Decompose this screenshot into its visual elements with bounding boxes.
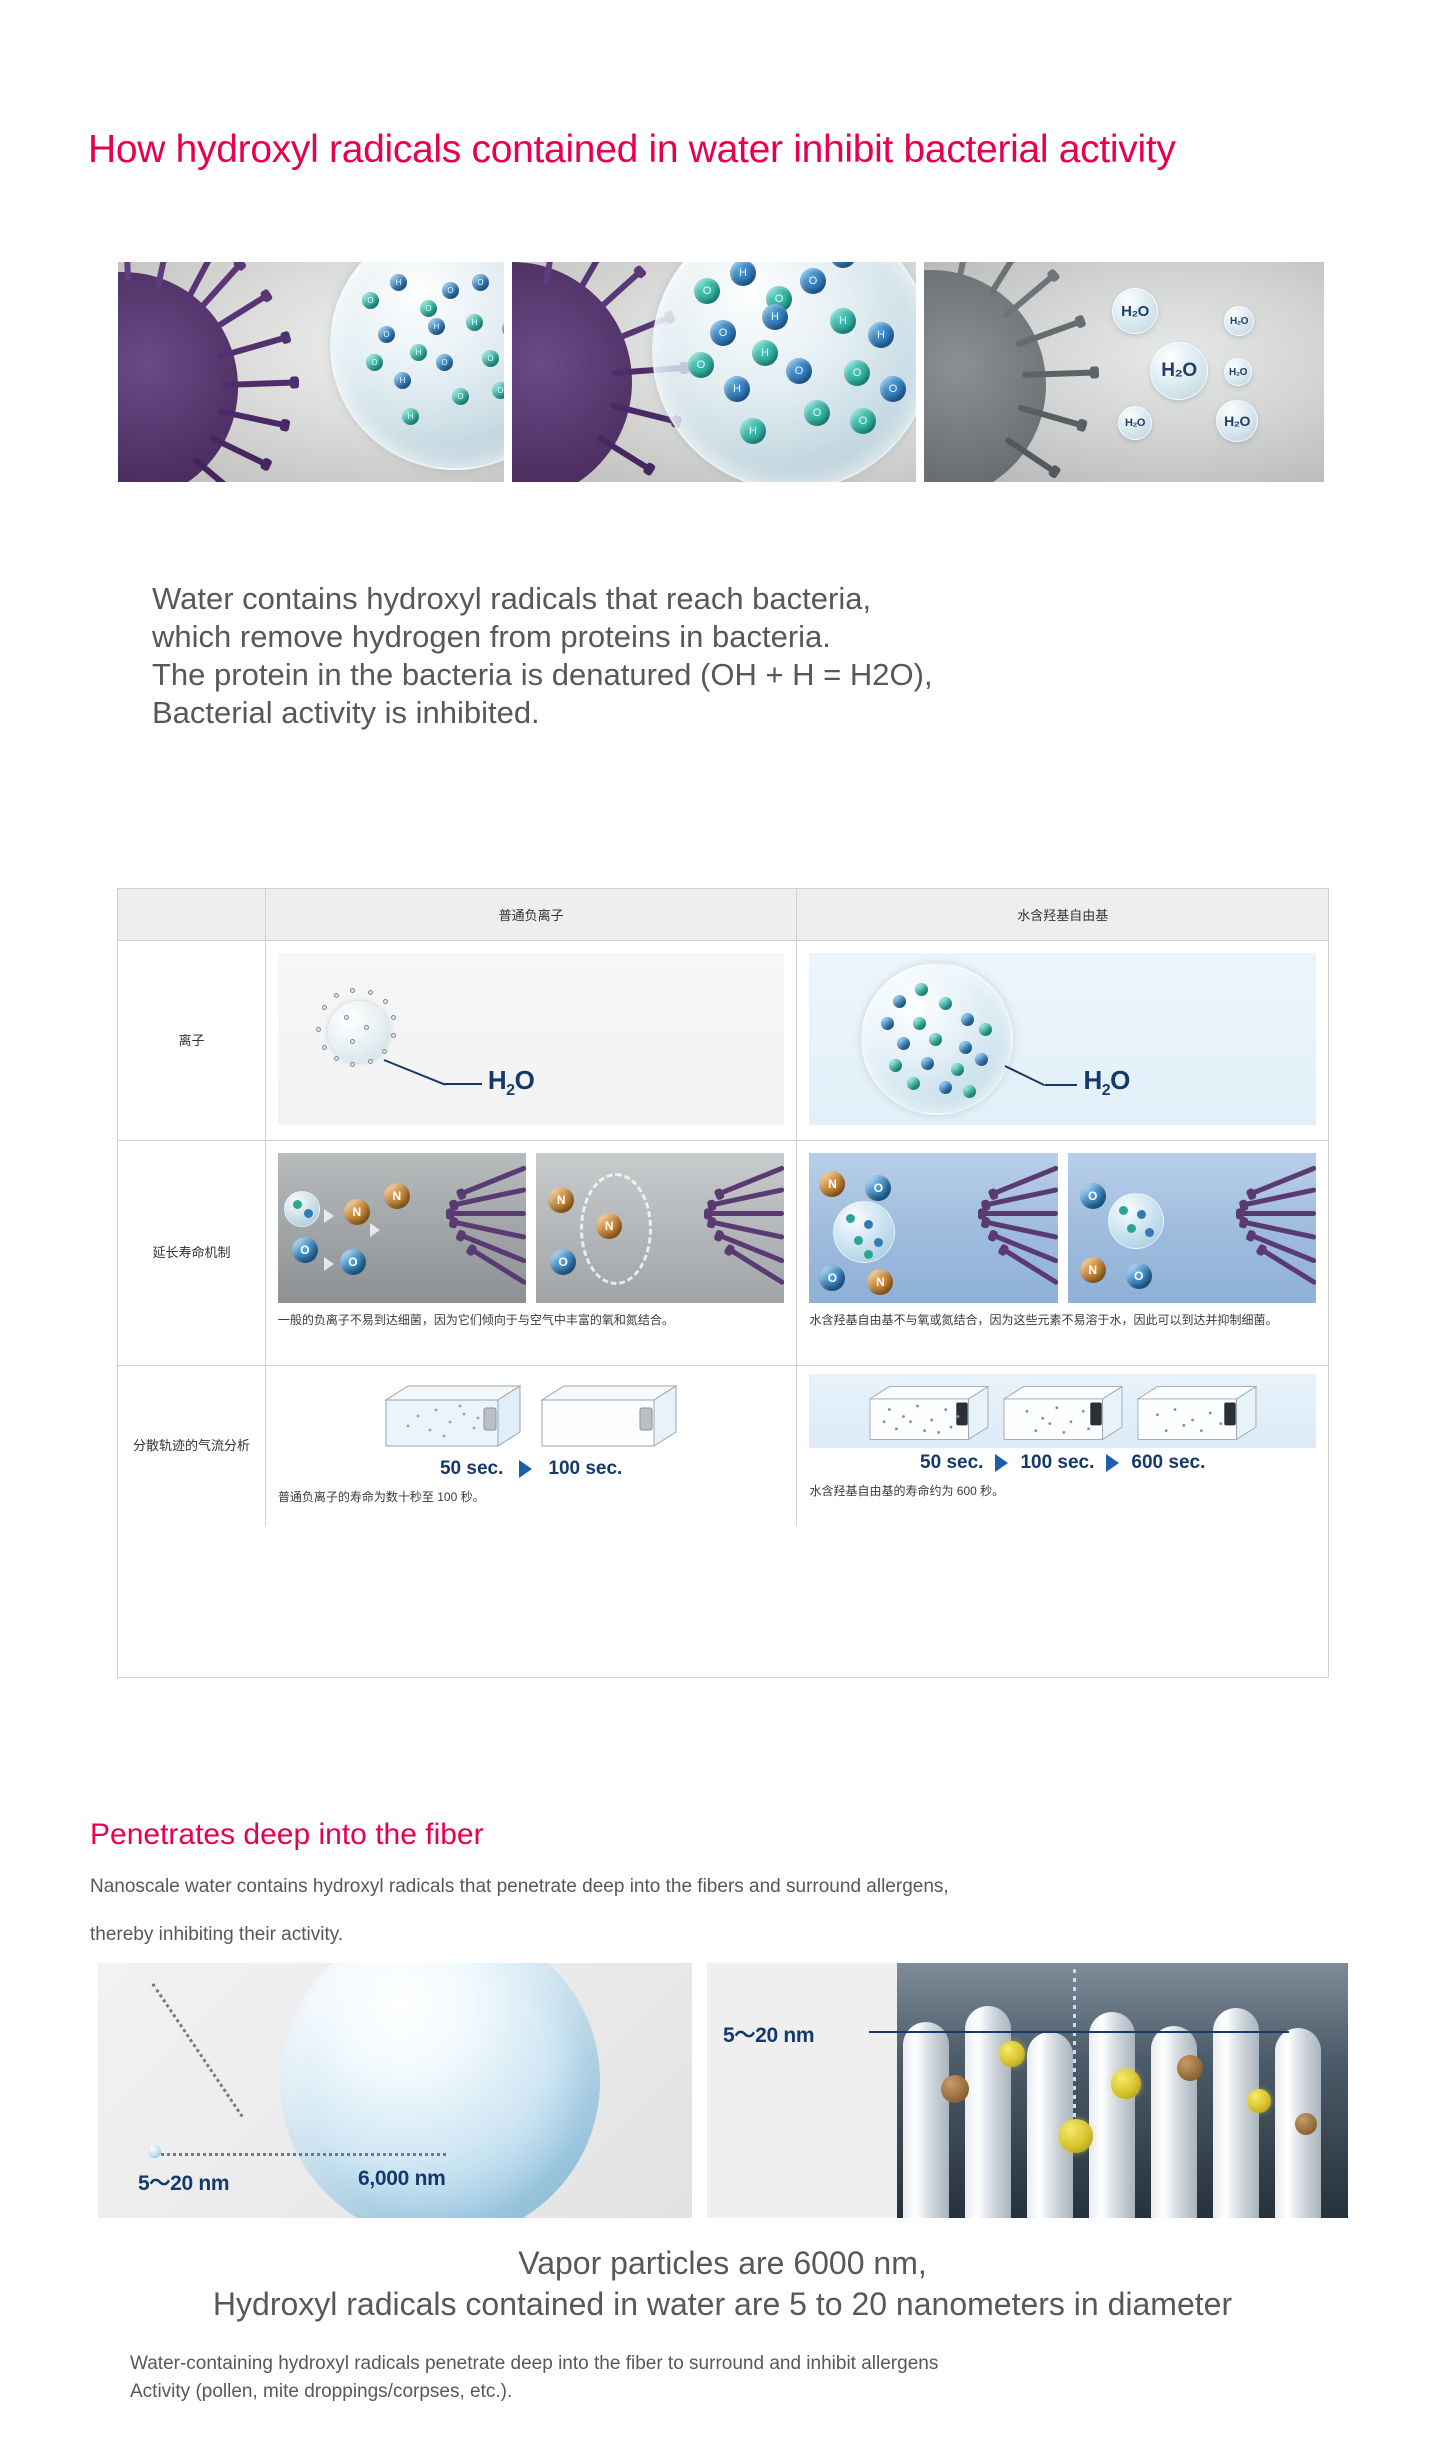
dotted-measure-diagonal: [152, 1983, 244, 2117]
allergen-mite-debris: [1295, 2113, 1317, 2135]
measure-line: [869, 2031, 1289, 2033]
atom-n: N: [548, 1187, 574, 1213]
leader-line: [1045, 1084, 1077, 1086]
water-cluster-small: [1108, 1193, 1164, 1249]
timeline-ordinary: 50 sec. 100 sec.: [278, 1458, 785, 1480]
size-comparison-image: 5～20 nm 6,000 nm: [98, 1963, 692, 2218]
h2o-bubble: H₂O: [1216, 400, 1258, 442]
bacteria-spike-wall: [434, 1153, 526, 1303]
allergen-pollen: [999, 2041, 1025, 2067]
label-6000-nm: 6,000 nm: [358, 2167, 446, 2191]
hero-image-3: H₂O H₂O H₂O H₂O H₂O H₂O: [924, 262, 1324, 482]
allergen-mite-debris: [941, 2075, 969, 2103]
hero-image-1: O H O O H O H O O H O H O H O O H O: [118, 262, 504, 482]
airflow-box: [378, 1378, 528, 1454]
leader-line: [1005, 1065, 1045, 1086]
arrow-right-icon: [519, 1460, 532, 1478]
caption-hydroxyl-mechanism: 水含羟基自由基不与氧或氮结合，因为这些元素不易溶于水，因此可以到达并抑制细菌。: [809, 1311, 1316, 1330]
comparison-table: 普通负离子 水含羟基自由基 离子: [117, 888, 1329, 1678]
dotted-measure-horizontal: [156, 2153, 446, 2156]
water-cluster-small: [833, 1201, 895, 1263]
atom-n: N: [819, 1171, 845, 1197]
label-5-20-nm: 5～20 nm: [138, 2167, 229, 2197]
fiber-cross-section-image: 5～20 nm: [707, 1963, 1348, 2218]
intro-line-2: which remove hydrogen from proteins in b…: [152, 618, 1272, 656]
atom-o: O: [1126, 1263, 1152, 1289]
row-label-lifetime-mechanism: 延长寿命机制: [118, 1141, 266, 1365]
atom-n: N: [1080, 1257, 1106, 1283]
page-title: How hydroxyl radicals contained in water…: [88, 128, 1176, 172]
leader-line: [384, 1059, 446, 1086]
cell-hydroxyl-airflow: 50 sec. 100 sec. 600 sec. 水含羟基自由基的寿命约为 6…: [797, 1366, 1328, 1526]
atom-o: O: [1080, 1183, 1106, 1209]
airflow-box: [863, 1378, 995, 1448]
atom-o: O: [550, 1249, 576, 1275]
atom-o: O: [819, 1265, 845, 1291]
atom-o: O: [865, 1175, 891, 1201]
fiber-strand: [903, 2022, 949, 2218]
intro-paragraph: Water contains hydroxyl radicals that re…: [152, 580, 1272, 732]
cell-hydroxyl-mechanism: N O O N: [797, 1141, 1328, 1365]
bacteria-spike-wall: [692, 1153, 784, 1303]
time-label: 100 sec.: [1020, 1452, 1094, 1474]
allergen-mite-debris: [1177, 2055, 1203, 2081]
bottom-summary-line-2: Hydroxyl radicals contained in water are…: [0, 2284, 1445, 2325]
bottom-note: Water-containing hydroxyl radicals penet…: [130, 2350, 1360, 2406]
allergen-pollen: [1247, 2089, 1271, 2113]
fiber-image-strip: 5～20 nm 6,000 nm 5～20 nm: [98, 1963, 1348, 2218]
allergen-pollen: [1111, 2069, 1141, 2099]
airflow-box: [1131, 1378, 1263, 1448]
bacteria-spike-wall: [966, 1153, 1058, 1303]
fiber-paragraph-line-1: Nanoscale water contains hydroxyl radica…: [90, 1872, 1360, 1902]
time-label: 100 sec.: [548, 1458, 622, 1480]
h2o-label-ordinary: H2O: [488, 1065, 534, 1100]
water-cluster-droplet: [861, 963, 1013, 1115]
h2o-bubble: H₂O: [1112, 288, 1158, 334]
cell-ordinary-mechanism: O N O N N: [266, 1141, 798, 1365]
row-label-ions: 离子: [118, 941, 266, 1140]
fiber-paragraph-line-2: thereby inhibiting their activity.: [90, 1920, 1360, 1950]
arrow-right-icon: [1106, 1454, 1119, 1472]
time-label: 50 sec.: [440, 1458, 503, 1480]
row-label-airflow-analysis: 分散轨迹的气流分析: [118, 1366, 266, 1526]
hydroxyl-radical-stream: [1073, 1969, 1076, 2119]
ion-panel-blue: H2O: [809, 953, 1316, 1125]
intro-line-3: The protein in the bacteria is denatured…: [152, 656, 1272, 694]
cell-hydroxyl-radical-diagram: H2O: [797, 941, 1328, 1140]
timeline-hydroxyl: 50 sec. 100 sec. 600 sec.: [809, 1452, 1316, 1474]
allergen-pollen: [1059, 2119, 1093, 2153]
intro-line-1: Water contains hydroxyl radicals that re…: [152, 580, 1272, 618]
h2o-bubble: H₂O: [1224, 358, 1252, 386]
cell-ordinary-ion-diagram: H2O: [266, 941, 798, 1140]
hero-image-strip: O H O O H O H O O H O H O H O O H O: [118, 262, 1326, 482]
atom-o: O: [340, 1249, 366, 1275]
h2o-bubble: H₂O: [1150, 342, 1208, 400]
caption-hydroxyl-lifetime: 水含羟基自由基的寿命约为 600 秒。: [809, 1482, 1316, 1501]
leader-line: [444, 1083, 482, 1085]
atom-n: N: [384, 1183, 410, 1209]
atom-n: N: [344, 1199, 370, 1225]
table-row: 延长寿命机制 O N O N: [118, 1141, 1328, 1366]
h2o-bubble: H₂O: [1224, 306, 1254, 336]
cell-ordinary-airflow: 50 sec. 100 sec. 普通负离子的寿命为数十秒至 100 秒。: [266, 1366, 798, 1526]
time-label: 50 sec.: [920, 1452, 983, 1474]
table-row: 离子 H2O: [118, 941, 1328, 1141]
bottom-note-line-1: Water-containing hydroxyl radicals penet…: [130, 2350, 1360, 2378]
airflow-boxes-gray: [278, 1374, 785, 1454]
table-header-blank: [118, 889, 266, 940]
small-ion-cluster-icon: [328, 1001, 390, 1063]
mechanism-image-left: N O O N: [809, 1153, 1057, 1303]
section-heading-fiber: Penetrates deep into the fiber: [90, 1818, 484, 1852]
time-label: 600 sec.: [1131, 1452, 1205, 1474]
ion-panel-gray: H2O: [278, 953, 785, 1125]
airflow-box: [534, 1378, 684, 1454]
caption-ordinary-mechanism: 一般的负离子不易到达细菌，因为它们倾向于与空气中丰富的氧和氮结合。: [278, 1311, 785, 1330]
caption-ordinary-lifetime: 普通负离子的寿命为数十秒至 100 秒。: [278, 1488, 785, 1507]
bottom-note-line-2: Activity (pollen, mite droppings/corpses…: [130, 2378, 1360, 2406]
table-header-hydroxyl-radicals: 水含羟基自由基: [797, 889, 1328, 940]
fiber-strand: [965, 2006, 1011, 2218]
h2o-label-hydroxyl: H2O: [1083, 1065, 1129, 1100]
mechanism-image-left: O N O N: [278, 1153, 526, 1303]
fiber-strand: [1213, 2008, 1259, 2218]
mechanism-illustrations-blue: N O O N: [809, 1153, 1316, 1303]
h2o-bubble: H₂O: [1118, 406, 1152, 440]
bottom-summary-line-1: Vapor particles are 6000 nm,: [0, 2243, 1445, 2284]
hero-image-2: O H O O H O H O O H O H O H O O H O: [512, 262, 916, 482]
hydroxyl-radical-droplet: [148, 2145, 161, 2158]
intro-line-4: Bacterial activity is inhibited.: [152, 694, 1272, 732]
mechanism-illustrations-gray: O N O N N: [278, 1153, 785, 1303]
mechanism-image-right: N O N: [536, 1153, 784, 1303]
arrow-right-icon: [995, 1454, 1008, 1472]
atom-o: O: [292, 1237, 318, 1263]
image-left-margin: [707, 1963, 897, 2218]
atom-n: N: [867, 1269, 893, 1295]
table-row: 分散轨迹的气流分析: [118, 1366, 1328, 1526]
table-header-ordinary-ions: 普通负离子: [266, 889, 798, 940]
fiber-strand: [1089, 2012, 1135, 2218]
label-5-20-nm-fiber: 5～20 nm: [723, 2019, 814, 2049]
mechanism-image-right: O N O: [1068, 1153, 1316, 1303]
bacteria-spike-wall: [1224, 1153, 1316, 1303]
airflow-boxes-blue: [809, 1374, 1316, 1448]
bottom-summary: Vapor particles are 6000 nm, Hydroxyl ra…: [0, 2243, 1445, 2325]
airflow-box: [997, 1378, 1129, 1448]
table-header-row: 普通负离子 水含羟基自由基: [118, 889, 1328, 941]
